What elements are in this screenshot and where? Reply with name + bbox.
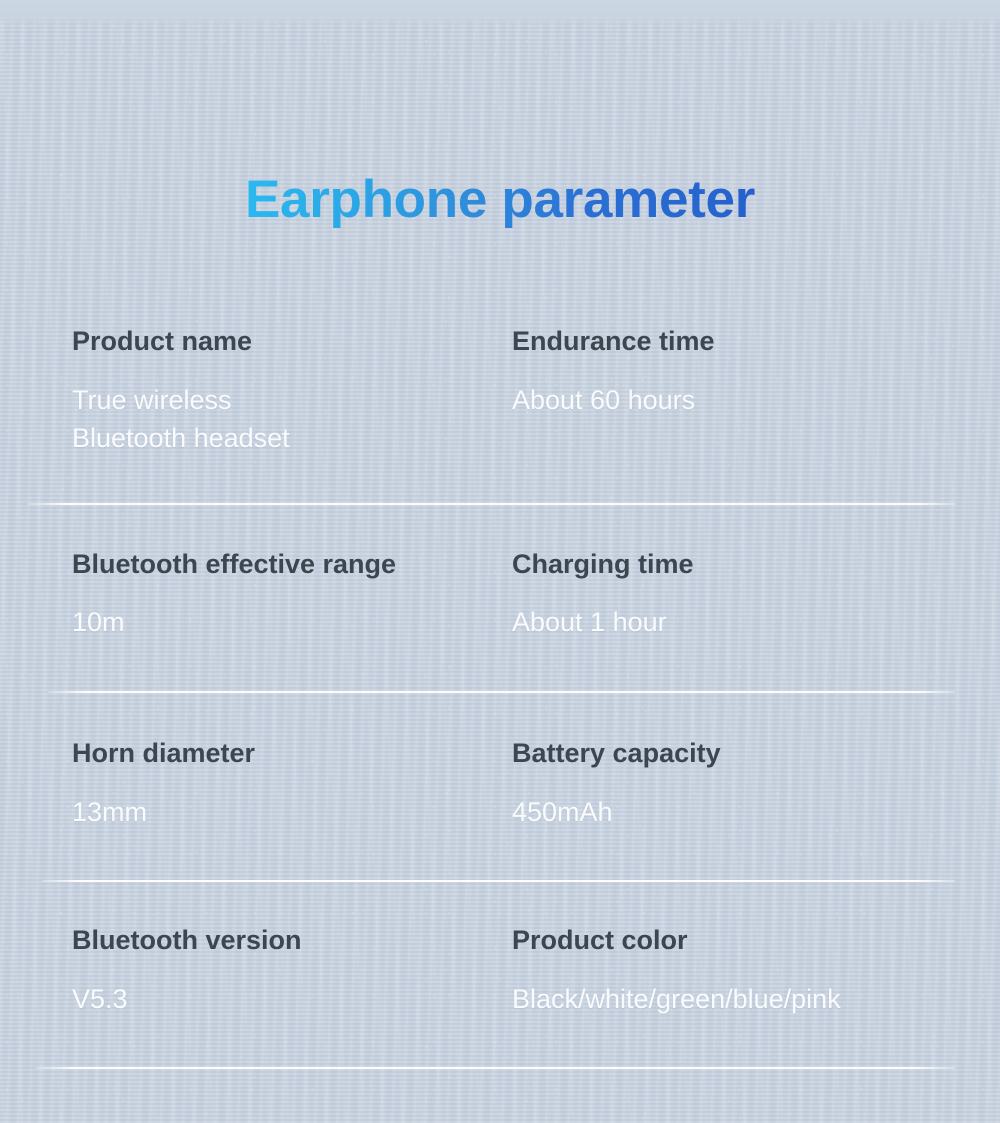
spec-value: 450mAh <box>512 793 982 831</box>
spec-label: Product color <box>512 925 982 957</box>
spec-row: Horn diameter 13mm Battery capacity 450m… <box>0 693 1000 882</box>
spec-cell-horn-diameter: Horn diameter 13mm <box>72 738 512 831</box>
spec-cell-battery-capacity: Battery capacity 450mAh <box>512 738 982 831</box>
spec-row-cells: Product name True wireless Bluetooth hea… <box>0 326 1000 458</box>
spec-label: Battery capacity <box>512 738 982 770</box>
spec-cell-bluetooth-effective-range: Bluetooth effective range 10m <box>72 549 512 642</box>
spec-value: 10m <box>72 603 512 641</box>
top-gradient-band <box>0 0 1000 26</box>
spec-row-cells: Horn diameter 13mm Battery capacity 450m… <box>0 693 1000 831</box>
spec-value: V5.3 <box>72 980 512 1018</box>
spec-row-cells: Bluetooth effective range 10m Charging t… <box>0 505 1000 642</box>
spec-label: Endurance time <box>512 326 982 358</box>
spec-row-cells: Bluetooth version V5.3 Product color Bla… <box>0 882 1000 1018</box>
spec-value: About 60 hours <box>512 381 982 419</box>
spec-value: About 1 hour <box>512 603 982 641</box>
spec-cell-charging-time: Charging time About 1 hour <box>512 549 982 642</box>
spec-cell-product-color: Product color Black/white/green/blue/pin… <box>512 925 982 1018</box>
spec-label: Horn diameter <box>72 738 512 770</box>
spec-cell-endurance-time: Endurance time About 60 hours <box>512 326 982 458</box>
spec-label: Bluetooth effective range <box>72 549 512 581</box>
spec-value: Black/white/green/blue/pink <box>512 980 982 1018</box>
title-container: Earphone parameter <box>0 133 1000 265</box>
spec-table: Product name True wireless Bluetooth hea… <box>0 326 1000 1069</box>
spec-label: Product name <box>72 326 512 358</box>
row-divider <box>36 1067 955 1069</box>
spec-label: Charging time <box>512 549 982 581</box>
spec-row: Bluetooth version V5.3 Product color Bla… <box>0 882 1000 1069</box>
earphone-parameter-sheet: Earphone parameter Product name True wir… <box>0 0 1000 1123</box>
spec-cell-product-name: Product name True wireless Bluetooth hea… <box>72 326 512 458</box>
page-title: Earphone parameter <box>245 169 755 230</box>
spec-value: 13mm <box>72 793 512 831</box>
spec-label: Bluetooth version <box>72 925 512 957</box>
spec-cell-bluetooth-version: Bluetooth version V5.3 <box>72 925 512 1018</box>
spec-row: Product name True wireless Bluetooth hea… <box>0 326 1000 505</box>
spec-row: Bluetooth effective range 10m Charging t… <box>0 505 1000 693</box>
spec-value: True wireless Bluetooth headset <box>72 381 512 458</box>
